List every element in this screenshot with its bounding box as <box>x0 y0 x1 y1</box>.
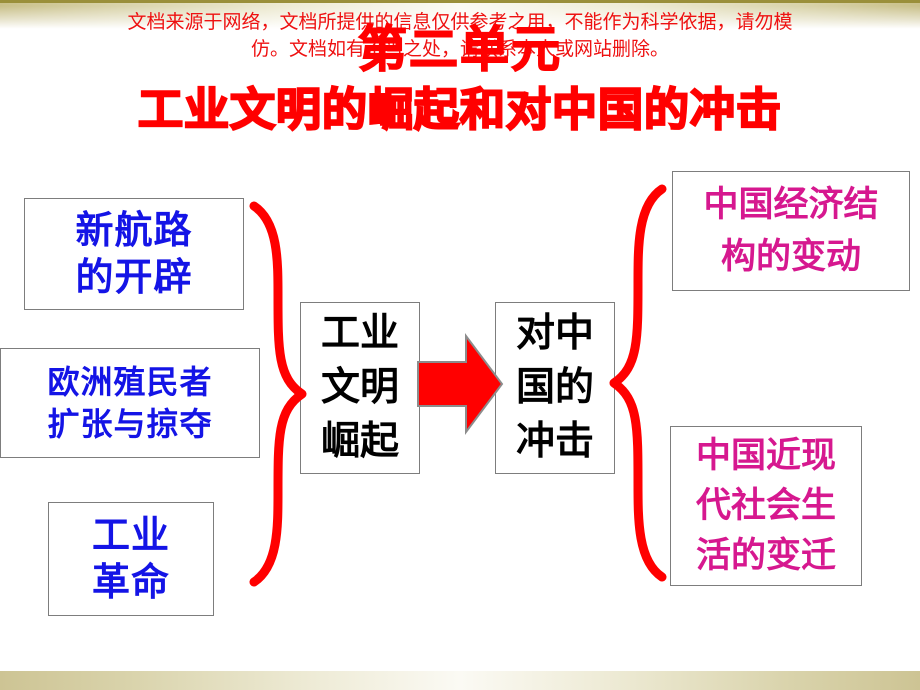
node-box-impact-on-china[interactable]: 对中 国的 冲击 <box>495 302 615 474</box>
node-box-sea-route[interactable]: 新航路 的开辟 <box>24 198 244 310</box>
node-box-industrial-civilization[interactable]: 工业 文明 崛起 <box>300 302 420 474</box>
node-box-social-life-change[interactable]: 中国近现 代社会生 活的变迁 <box>670 426 862 586</box>
node-box-economic-structure-change[interactable]: 中国经济结 构的变动 <box>672 171 910 291</box>
node-label-impact-on-china: 对中 国的 冲击 <box>516 307 594 469</box>
node-label-industrial-revolution: 工业 革命 <box>92 512 170 606</box>
node-label-industrial-civilization: 工业 文明 崛起 <box>321 307 399 469</box>
unit-heading: 第二单元 <box>0 24 920 76</box>
node-label-colonial-expansion: 欧洲殖民者 扩张与掠夺 <box>47 361 212 445</box>
node-label-sea-route: 新航路 的开辟 <box>75 207 192 301</box>
right-curly-brace-connector <box>608 183 668 583</box>
right-arrow-icon <box>416 330 504 438</box>
page-title: 工业文明的崛起和对中国的冲击 <box>0 84 920 136</box>
node-label-social-life-change: 中国近现 代社会生 活的变迁 <box>696 431 836 581</box>
left-curly-brace-connector <box>248 200 308 588</box>
slide-canvas: 文档来源于网络，文档所提供的信息仅供参考之用，不能作为科学依据，请勿模 仿。文档… <box>0 0 920 690</box>
node-box-colonial-expansion[interactable]: 欧洲殖民者 扩张与掠夺 <box>0 348 260 458</box>
node-label-economic-structure-change: 中国经济结 构的变动 <box>703 179 878 283</box>
node-box-industrial-revolution[interactable]: 工业 革命 <box>48 502 214 616</box>
footer-strip <box>0 671 920 690</box>
